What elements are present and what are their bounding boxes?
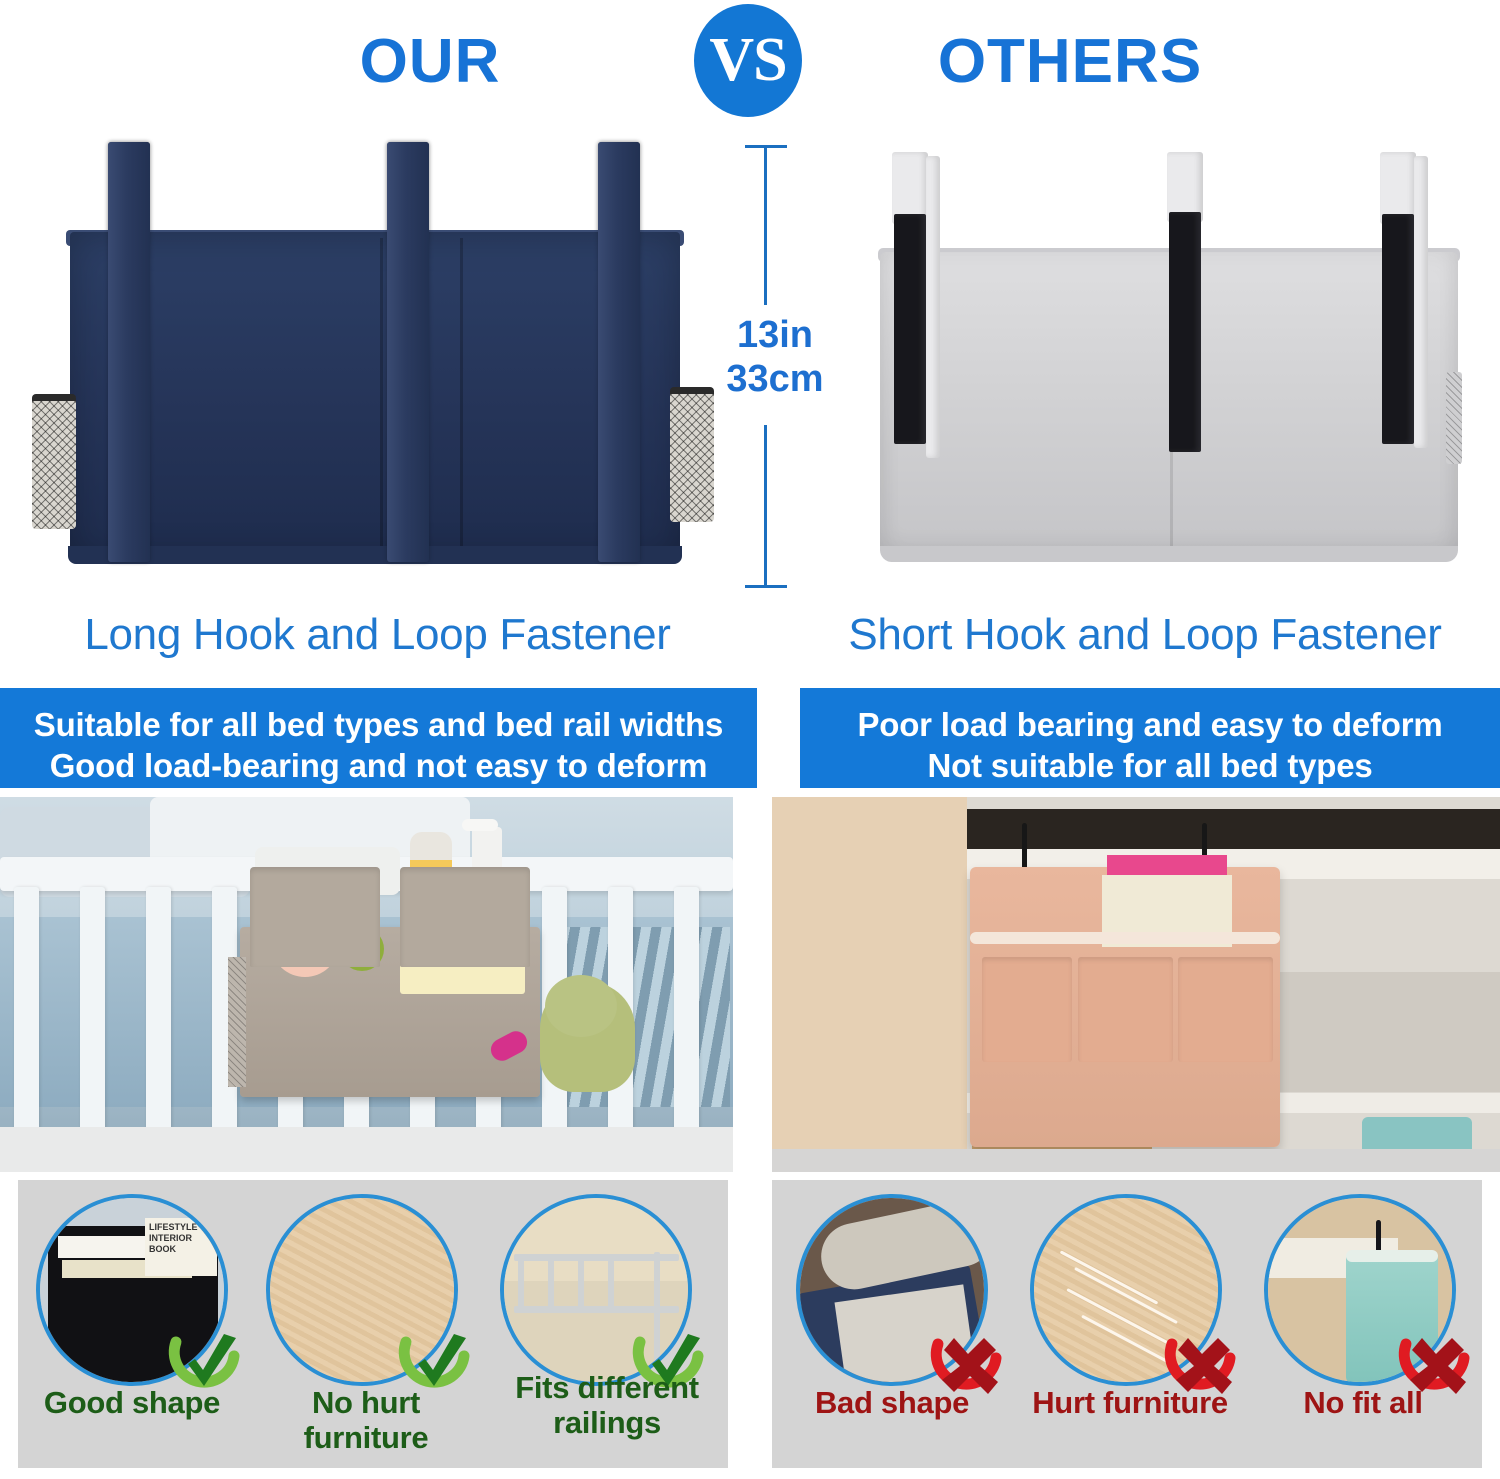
scratch-mark	[1074, 1267, 1178, 1324]
feature-label-good-shape: Good shape	[18, 1385, 246, 1420]
organizer-mesh-side-pocket	[228, 957, 246, 1087]
bag-body	[70, 232, 680, 562]
page-title-our: OUR	[230, 18, 630, 106]
our-benefit-line-2: Good load-bearing and not easy to deform	[0, 745, 757, 786]
others-drawback-line-1: Poor load bearing and easy to deform	[800, 704, 1500, 745]
feature-label-fits-railings: Fits different railings	[486, 1370, 728, 1440]
competitor-strap-left-velcro	[894, 214, 926, 444]
dimension-centimeters: 33cm	[726, 358, 823, 400]
competitor-pocket-1	[982, 957, 1072, 1062]
drawback-label-bad-shape: Bad shape	[772, 1385, 1012, 1420]
room-wall	[772, 797, 972, 1172]
competitor-strap-right-velcro	[1382, 214, 1414, 444]
bag-seam-right	[460, 238, 463, 558]
others-fastener-caption: Short Hook and Loop Fastener	[790, 606, 1500, 664]
crib-bar	[146, 887, 171, 1137]
our-lifestyle-photo	[0, 797, 733, 1172]
dimension-annotation: 13in 33cm	[700, 145, 850, 590]
crib-bar	[674, 887, 699, 1137]
competitor-strap-left-tail	[926, 156, 940, 458]
scratch-mark	[1060, 1250, 1159, 1304]
our-product-photo	[30, 142, 710, 582]
crib-floor	[0, 1127, 733, 1172]
competitor-strap-mid-velcro	[1169, 212, 1201, 452]
teal-organizer-rim	[1346, 1250, 1438, 1262]
drawback-label-hurt-furniture: Hurt furniture	[1010, 1385, 1250, 1420]
rail-bar	[608, 1260, 614, 1310]
competitor-pocket-3	[1178, 957, 1273, 1062]
others-product-photo	[860, 142, 1480, 582]
others-feature-strip: Bad shape Hurt furniture	[772, 1180, 1482, 1468]
dimension-cap-bottom	[745, 585, 787, 588]
dimension-label: 13in 33cm	[700, 313, 850, 401]
competitor-organizer-rim	[970, 932, 1280, 944]
strap-middle-overlay	[387, 142, 429, 562]
header: OUR VS OTHERS	[0, 0, 1500, 118]
organizer-pocket-right	[400, 867, 530, 967]
dimension-line-top	[764, 145, 767, 305]
organizer-pocket-left	[250, 867, 380, 967]
our-benefit-line-1: Suitable for all bed types and bed rail …	[0, 704, 757, 745]
others-drawback-line-2: Not suitable for all bed types	[800, 745, 1500, 786]
our-feature-strip: LIFESTYLE INTERIOR BOOK Good shape No hu…	[18, 1180, 728, 1468]
page-title-others: OTHERS	[870, 18, 1270, 106]
bed-rail-dark	[967, 809, 1500, 849]
drawback-label-no-fit-all: No fit all	[1244, 1385, 1482, 1420]
rail-bar	[578, 1258, 584, 1310]
our-fastener-caption: Long Hook and Loop Fastener	[0, 606, 755, 664]
our-benefit-banner: Suitable for all bed types and bed rail …	[0, 688, 757, 788]
competitor-mesh-pocket	[1446, 372, 1462, 464]
rail-bar	[518, 1258, 524, 1310]
feature-label-no-hurt-furniture: No hurt furniture	[246, 1385, 486, 1455]
book-cover: LIFESTYLE INTERIOR BOOK	[145, 1218, 217, 1276]
bag-seam-left	[380, 238, 383, 558]
vs-badge: VS	[694, 4, 802, 117]
others-drawback-banner: Poor load bearing and easy to deform Not…	[800, 688, 1500, 788]
dimension-line-bottom	[764, 425, 767, 585]
mesh-pocket-left	[32, 394, 76, 529]
competitor-pocket-2	[1078, 957, 1173, 1062]
strap-left-overlay	[108, 142, 150, 562]
competitor-strap-right-tail	[1414, 156, 1428, 448]
crib-bar	[80, 887, 105, 1137]
room-floor	[772, 1149, 1500, 1172]
plush-dinosaur-head	[545, 975, 617, 1037]
plush-ear-left	[487, 1027, 531, 1064]
comparison-infographic: OUR VS OTHERS 13in 33cm	[0, 0, 1500, 1479]
competitor-bottom-binding	[880, 546, 1458, 562]
bag-bottom-binding	[68, 546, 682, 564]
others-lifestyle-photo	[772, 797, 1500, 1172]
rail-bar	[548, 1258, 554, 1310]
strap-right-overlay	[598, 142, 640, 562]
crib-bar	[14, 887, 39, 1137]
dimension-inches: 13in	[737, 314, 813, 356]
